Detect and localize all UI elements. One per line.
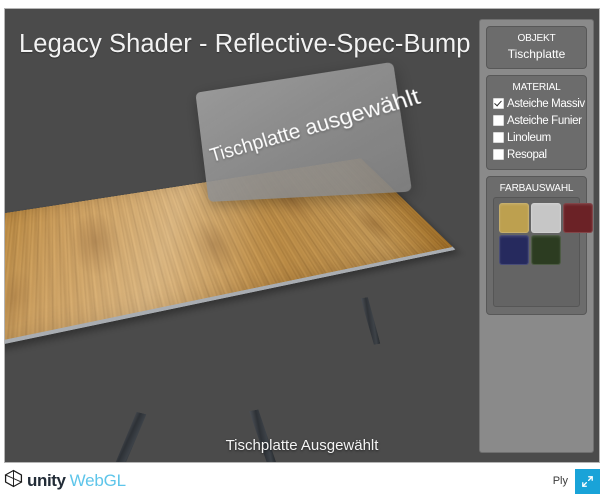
checkbox-icon[interactable] — [493, 132, 504, 143]
checkbox-icon[interactable] — [493, 115, 504, 126]
selection-info-plate-label: Tischplatte ausgewählt — [208, 91, 402, 168]
color-swatch-grid — [499, 203, 574, 263]
unity-logo-icon — [4, 469, 23, 493]
material-option-resopal[interactable]: Resopal — [493, 147, 580, 162]
table-leg-front-right — [249, 409, 277, 462]
object-panel: OBJEKT Tischplatte — [486, 26, 587, 69]
color-swatch-gold[interactable] — [499, 203, 529, 233]
scene-title: Legacy Shader - Reflective-Spec-Bump — [19, 30, 470, 59]
material-option-label: Resopal — [507, 149, 547, 161]
material-option-label: Asteiche Funier — [507, 115, 582, 127]
color-swatch-box — [493, 197, 580, 307]
material-option-label: Asteiche Massiv — [507, 98, 585, 110]
config-sidebar: OBJEKT Tischplatte MATERIAL Asteiche Mas… — [479, 19, 594, 453]
color-swatch-light-grey[interactable] — [531, 203, 561, 233]
selection-info-plate: Tischplatte ausgewählt — [195, 62, 412, 202]
unity-branding: unity WebGL — [4, 469, 126, 493]
color-panel-title: FARBAUSWAHL — [495, 182, 579, 194]
object-panel-value: Tischplatte — [493, 47, 580, 61]
color-swatch-dark-red[interactable] — [563, 203, 593, 233]
color-swatch-dark-green[interactable] — [531, 235, 561, 265]
unity-webgl-page: Legacy Shader - Reflective-Spec-Bump Tis… — [0, 0, 607, 500]
checkbox-icon[interactable] — [493, 149, 504, 160]
material-panel: MATERIAL Asteiche Massiv Asteiche Funier… — [486, 75, 587, 170]
color-panel: FARBAUSWAHL — [486, 176, 587, 315]
color-swatch-navy-blue[interactable] — [499, 235, 529, 265]
fullscreen-button[interactable] — [575, 469, 600, 494]
table-leg-back-right — [361, 297, 381, 345]
material-panel-title: MATERIAL — [495, 81, 579, 93]
material-option-linoleum[interactable]: Linoleum — [493, 130, 580, 145]
material-option-asteiche-funier[interactable]: Asteiche Funier — [493, 113, 580, 128]
fullscreen-icon — [581, 475, 594, 488]
object-panel-title: OBJEKT — [495, 32, 579, 44]
checkbox-icon[interactable] — [493, 98, 504, 109]
player-footer: unity WebGL Ply — [4, 466, 600, 496]
unity-player-frame: Legacy Shader - Reflective-Spec-Bump Tis… — [4, 8, 600, 463]
material-option-asteiche-massiv[interactable]: Asteiche Massiv — [493, 96, 580, 111]
material-option-label: Linoleum — [507, 132, 551, 144]
unity-wordmark: unity — [27, 471, 66, 491]
webgl-wordmark: WebGL — [70, 471, 126, 491]
ply-label: Ply — [553, 475, 568, 487]
